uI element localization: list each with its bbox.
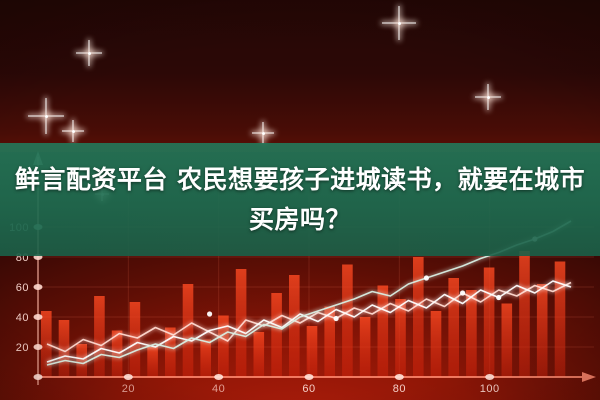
x-axis-tick-label: 100	[480, 383, 500, 395]
bar	[342, 265, 353, 378]
x-axis-tick-dot	[485, 374, 494, 380]
bar	[147, 347, 158, 377]
bar	[466, 290, 477, 377]
bar	[254, 332, 265, 377]
bar	[484, 268, 495, 378]
bar	[537, 284, 548, 377]
bar	[271, 293, 282, 377]
x-axis-tick-label: 80	[393, 383, 406, 395]
y-axis-tick-dot	[34, 284, 43, 290]
page-title-line1: 鲜言配资平台 农民想要孩子进城读书，就要在城市	[0, 160, 600, 200]
chart-background-image: 2040608010020406080100 鲜言配资平台 农民想要孩子进城读书…	[0, 0, 600, 400]
x-axis-tick-dot	[395, 374, 404, 380]
bar	[289, 275, 300, 377]
x-axis-tick-dot	[34, 374, 43, 380]
x-axis-tick-dot	[305, 374, 314, 380]
x-axis-tick-label: 60	[302, 383, 315, 395]
bar	[431, 311, 442, 377]
bar	[218, 316, 229, 378]
y-axis-tick-dot	[34, 344, 43, 350]
y-axis-tick-label: 40	[16, 312, 29, 324]
data-point-marker	[460, 290, 465, 295]
x-axis-arrow-icon	[582, 372, 596, 382]
x-axis-tick-dot	[214, 374, 223, 380]
bar	[360, 317, 371, 377]
y-axis-tick-label: 20	[16, 342, 29, 354]
bar	[200, 340, 211, 378]
data-point-marker	[207, 311, 212, 316]
bar	[555, 262, 566, 378]
bar	[378, 286, 389, 378]
x-axis-tick-label: 40	[212, 383, 225, 395]
bar	[448, 278, 459, 377]
bar	[519, 251, 530, 377]
bar	[413, 257, 424, 377]
data-point-marker	[496, 295, 501, 300]
bar	[59, 320, 70, 377]
data-point-marker	[334, 316, 339, 321]
bar	[236, 269, 247, 377]
bar	[94, 296, 105, 377]
bar	[130, 302, 141, 377]
bar	[41, 311, 52, 377]
bar	[395, 299, 406, 377]
page-title-line2: 买房吗？	[0, 200, 600, 240]
bar	[76, 344, 87, 377]
title-block: 鲜言配资平台 农民想要孩子进城读书，就要在城市 买房吗？	[0, 160, 600, 240]
data-point-marker	[424, 275, 429, 280]
x-axis-tick-dot	[124, 374, 133, 380]
y-axis-tick-dot	[34, 314, 43, 320]
bar	[307, 326, 318, 377]
bar	[183, 284, 194, 377]
x-axis-tick-label: 20	[122, 383, 135, 395]
bar	[502, 304, 513, 378]
y-axis-tick-label: 60	[16, 282, 29, 294]
background-top-dark-band	[0, 0, 600, 152]
